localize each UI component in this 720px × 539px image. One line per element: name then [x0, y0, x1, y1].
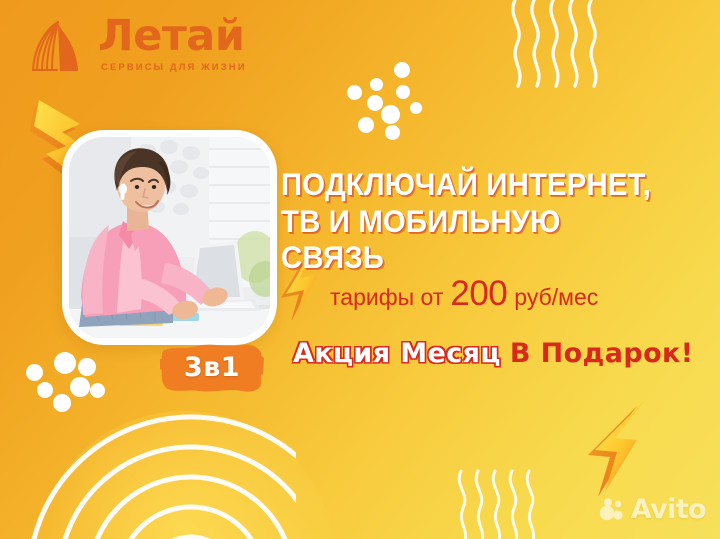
lightning-bolt-icon-right — [585, 396, 671, 496]
tariff-line: тарифы от 200 руб/мес — [330, 274, 598, 314]
brand-logo: Летай СЕРВИСЫ ДЛЯ ЖИЗНИ — [26, 16, 247, 76]
logo-tagline: СЕРВИСЫ ДЛЯ ЖИЗНИ — [101, 62, 247, 73]
tariff-unit: руб/мес — [514, 284, 598, 311]
wavy-lines-decor-top — [505, 0, 610, 88]
hero-photo-card — [62, 130, 277, 345]
promo-banner: Летай СЕРВИСЫ ДЛЯ ЖИЗНИ — [0, 0, 720, 539]
promo-rest: В Подарок! — [510, 338, 694, 369]
headline-line-1: ПОДКЛЮЧАЙ ИНТЕРНЕТ, — [281, 166, 651, 202]
hero-photo — [69, 137, 270, 338]
avito-watermark: Avito — [599, 494, 706, 525]
dot-cluster-decor-bottom — [12, 352, 122, 462]
dot-cluster-decor-top — [340, 62, 450, 162]
letai-wing-logo-icon — [26, 18, 88, 76]
promo-highlight: Акция Месяц — [293, 338, 501, 369]
avito-dots-icon — [599, 498, 625, 522]
badge-3in1-label: 3в1 — [160, 341, 264, 395]
promo-line: Акция Месяц В Подарок! — [293, 338, 694, 369]
wavy-lines-decor-bottom — [452, 468, 544, 539]
tariff-amount: 200 — [450, 274, 507, 314]
logo-wordmark: Летай — [98, 16, 247, 57]
headline-line-2: ТВ И МОБИЛЬНУЮ СВЯЗЬ — [281, 203, 662, 276]
tariff-prefix: тарифы от — [330, 284, 443, 311]
avito-wordmark: Avito — [631, 494, 706, 525]
badge-3in1: 3в1 — [160, 341, 264, 395]
headline: ПОДКЛЮЧАЙ ИНТЕРНЕТ, ТВ И МОБИЛЬНУЮ СВЯЗЬ — [281, 166, 662, 276]
